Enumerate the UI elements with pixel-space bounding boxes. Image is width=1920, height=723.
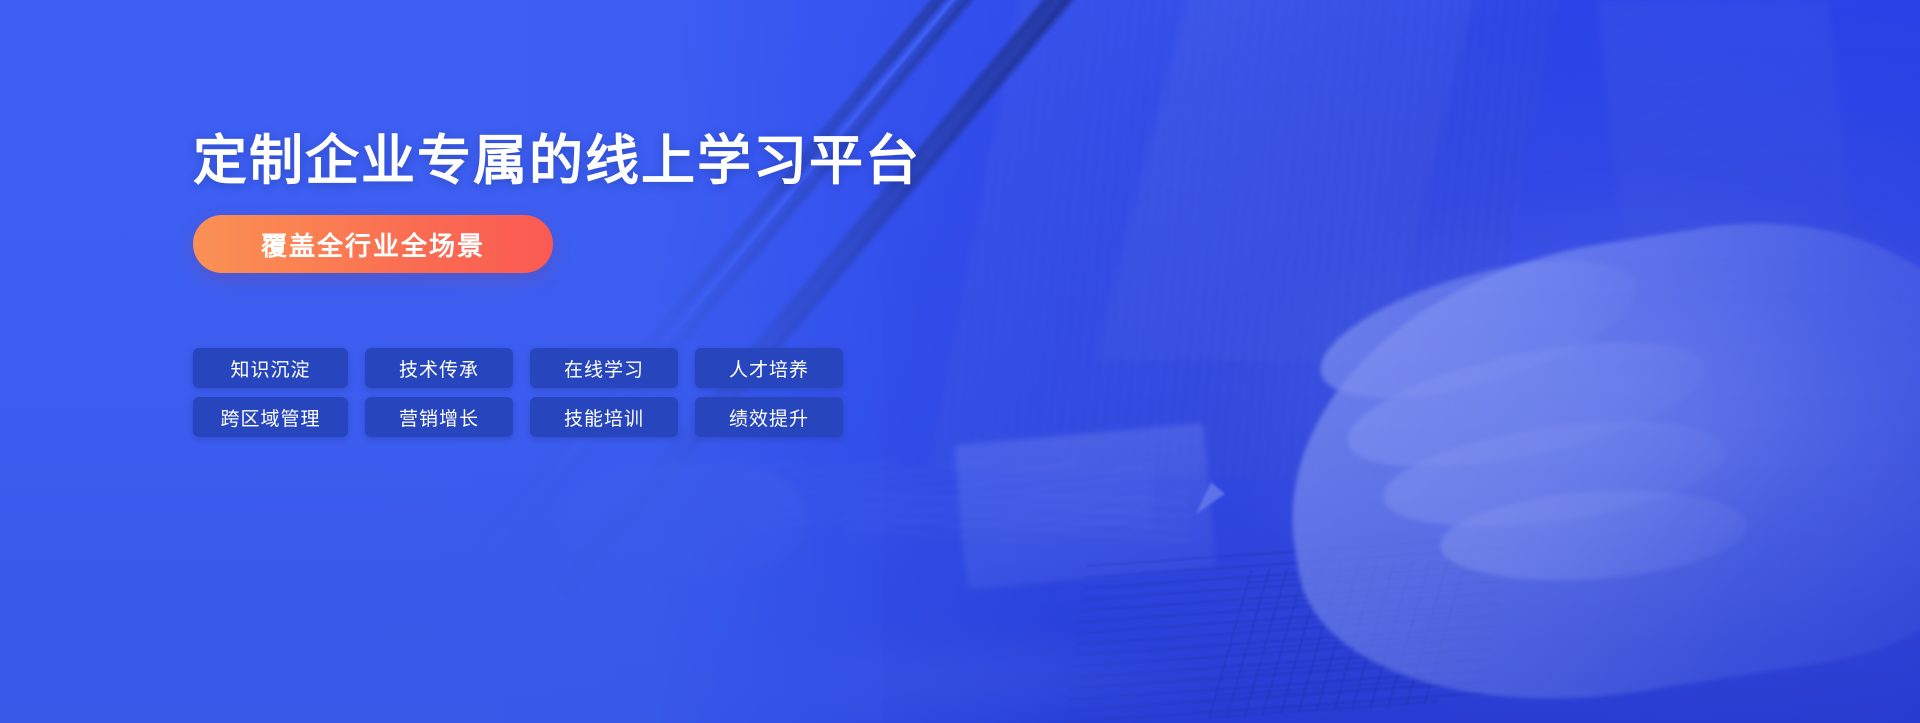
tag-performance-improvement[interactable]: 绩效提升 — [695, 397, 843, 437]
tag-knowledge-precipitation[interactable]: 知识沉淀 — [193, 348, 348, 388]
coverage-badge[interactable]: 覆盖全行业全场景 — [193, 215, 553, 273]
hero-content: 定制企业专属的线上学习平台 覆盖全行业全场景 知识沉淀 技术传承 在线学习 人才… — [193, 0, 1093, 723]
tag-marketing-growth[interactable]: 营销增长 — [365, 397, 513, 437]
tag-cross-region-management[interactable]: 跨区域管理 — [193, 397, 348, 437]
tag-talent-development[interactable]: 人才培养 — [695, 348, 843, 388]
hero-banner: 定制企业专属的线上学习平台 覆盖全行业全场景 知识沉淀 技术传承 在线学习 人才… — [0, 0, 1920, 723]
tag-row: 跨区域管理 营销增长 技能培训 绩效提升 — [193, 397, 843, 437]
tag-skill-training[interactable]: 技能培训 — [530, 397, 678, 437]
tag-technology-inheritance[interactable]: 技术传承 — [365, 348, 513, 388]
tag-row: 知识沉淀 技术传承 在线学习 人才培养 — [193, 348, 843, 388]
tag-list: 知识沉淀 技术传承 在线学习 人才培养 跨区域管理 营销增长 技能培训 绩效提升 — [193, 348, 843, 437]
page-title: 定制企业专属的线上学习平台 — [193, 131, 921, 190]
tag-online-learning[interactable]: 在线学习 — [530, 348, 678, 388]
